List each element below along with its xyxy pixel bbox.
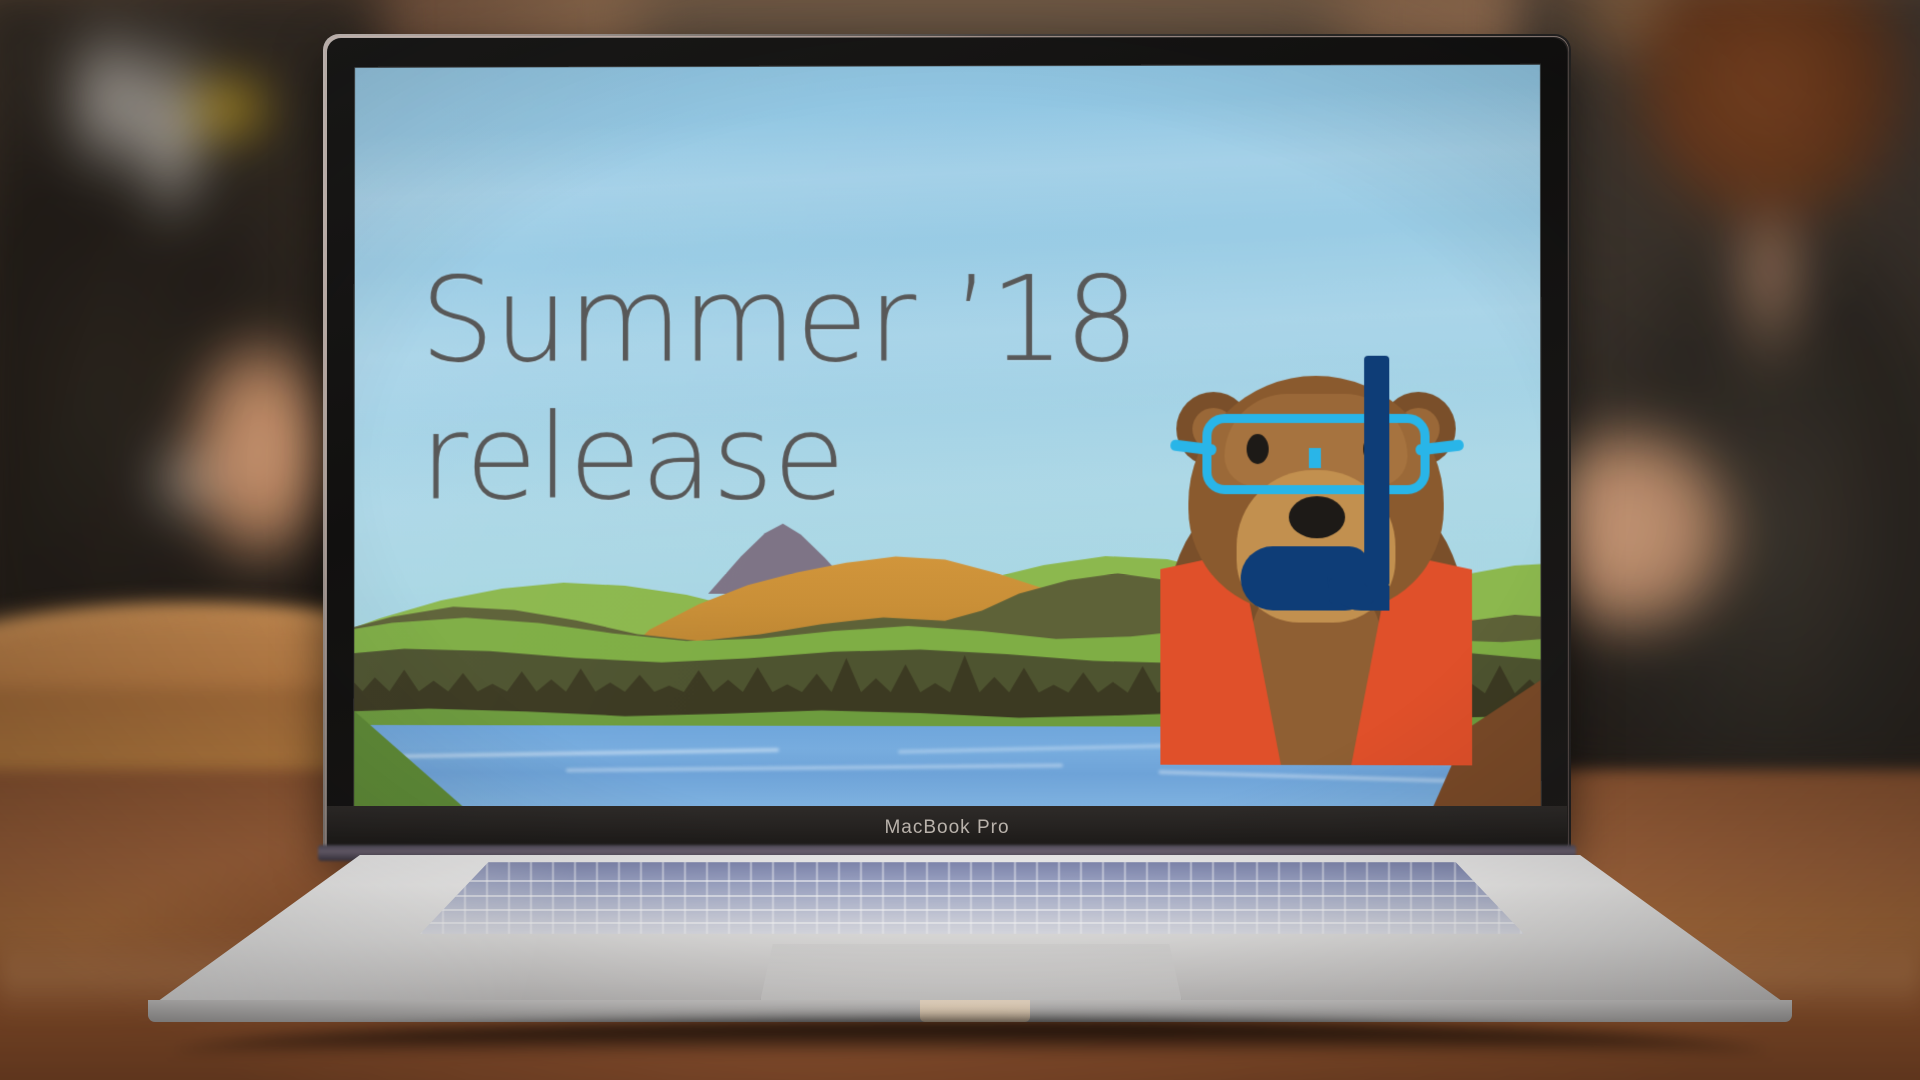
laptop-latch-notch xyxy=(920,1000,1030,1022)
keyboard-row xyxy=(420,909,1524,911)
macbook-pro-label: MacBook Pro xyxy=(327,817,1567,839)
snorkel-tube-vertical xyxy=(1364,356,1389,587)
laptop-chin-bezel: MacBook Pro xyxy=(327,806,1567,850)
keyboard-row xyxy=(420,922,1524,924)
slide-title-line-1: Summer ’18 xyxy=(420,262,1139,378)
keyboard-row xyxy=(420,895,1524,897)
keyboard-row xyxy=(420,880,1524,882)
slide-title-block: Summer ’18 release xyxy=(420,262,1139,516)
laptop-shadow xyxy=(170,1020,1770,1054)
goggle-bridge xyxy=(1309,448,1321,468)
laptop-trackpad[interactable] xyxy=(760,944,1182,1002)
macbook-pro-laptop: Summer ’18 release xyxy=(0,0,1920,1080)
slide-title-line-2: release xyxy=(420,400,1139,516)
codey-bear-mascot xyxy=(1158,350,1474,766)
screenshot-stage: Summer ’18 release xyxy=(0,0,1920,1080)
keyboard-rows xyxy=(420,862,1524,934)
bear-nose xyxy=(1289,496,1345,538)
laptop-screen[interactable]: Summer ’18 release xyxy=(354,65,1541,810)
